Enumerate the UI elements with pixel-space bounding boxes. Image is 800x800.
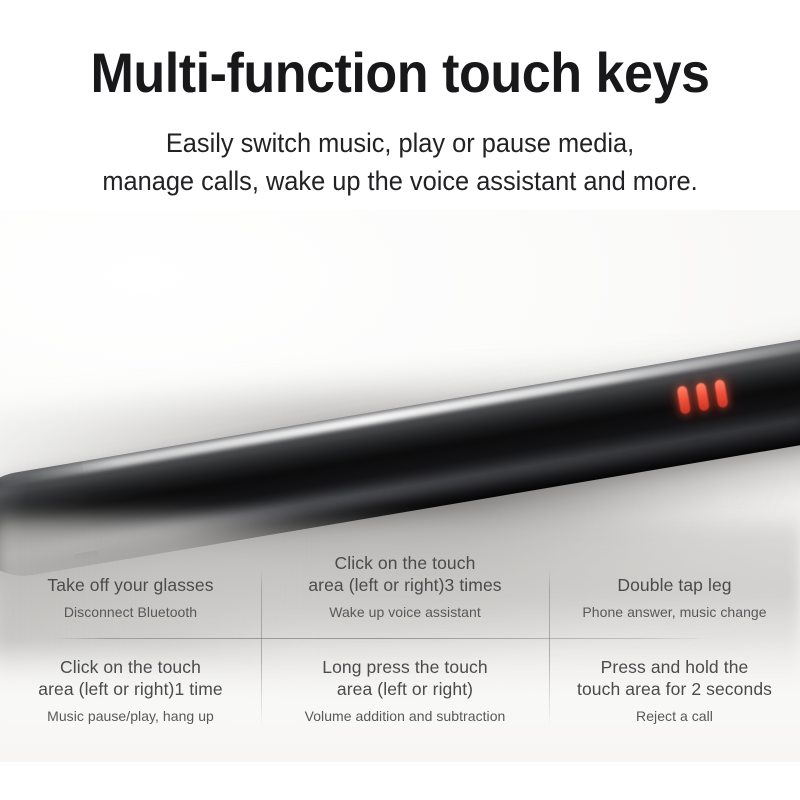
instruction-action-line-1: Long press the touch [261,656,549,678]
instruction-action: Click on the touch area (left or right)1… [0,656,261,700]
instruction-result: Volume addition and subtraction [261,707,549,725]
footer-whitespace [0,762,800,800]
instruction-action-line-1: Click on the touch [261,552,549,574]
page-subtitle-line-1: Easily switch music, play or pause media… [24,124,776,162]
instruction-cell-long-press: Long press the touch area (left or right… [261,656,549,725]
instructions-grid: Take off your glasses Disconnect Bluetoo… [0,548,800,733]
instruction-result: Reject a call [549,707,800,725]
instruction-action: Long press the touch area (left or right… [261,656,549,700]
instruction-result: Disconnect Bluetooth [0,603,261,621]
product-feature-page: Multi-function touch keys Easily switch … [0,0,800,800]
instruction-cell-double-tap-leg: Double tap leg Phone answer, music chang… [549,574,800,621]
led-indicator-group [677,379,729,415]
instruction-action-line-1: Press and hold the [549,656,800,678]
instruction-action: Press and hold the touch area for 2 seco… [549,656,800,700]
instruction-cell-triple-click: Click on the touch area (left or right)3… [261,552,549,621]
instruction-action: Click on the touch area (left or right)3… [261,552,549,596]
page-subtitle-line-2: manage calls, wake up the voice assistan… [24,162,776,200]
grid-divider-horizontal [55,638,710,639]
instruction-action: Take off your glasses [0,574,261,596]
instruction-action-line-2: area (left or right)3 times [261,574,549,596]
instruction-cell-single-click: Click on the touch area (left or right)1… [0,656,261,725]
instruction-result: Music pause/play, hang up [0,707,261,725]
instruction-action-line-2: touch area for 2 seconds [549,678,800,700]
instruction-action-line-1: Click on the touch [0,656,261,678]
instruction-cell-press-and-hold: Press and hold the touch area for 2 seco… [549,656,800,725]
instruction-result: Phone answer, music change [549,603,800,621]
page-subtitle: Easily switch music, play or pause media… [24,124,776,200]
product-photo-panel: Take off your glasses Disconnect Bluetoo… [0,210,800,762]
led-indicator-1 [677,385,692,414]
page-title: Multi-function touch keys [28,40,772,106]
instruction-action-line-2: area (left or right) [261,678,549,700]
led-indicator-3 [714,379,729,408]
instruction-result: Wake up voice assistant [261,603,549,621]
instruction-action: Double tap leg [549,574,800,596]
instruction-action-line-1: Double tap leg [549,574,800,596]
header-section: Multi-function touch keys Easily switch … [0,0,800,210]
instruction-action-line-1: Take off your glasses [0,574,261,596]
instruction-cell-take-off-glasses: Take off your glasses Disconnect Bluetoo… [0,574,261,621]
instruction-action-line-2: area (left or right)1 time [0,678,261,700]
led-indicator-2 [695,382,710,411]
